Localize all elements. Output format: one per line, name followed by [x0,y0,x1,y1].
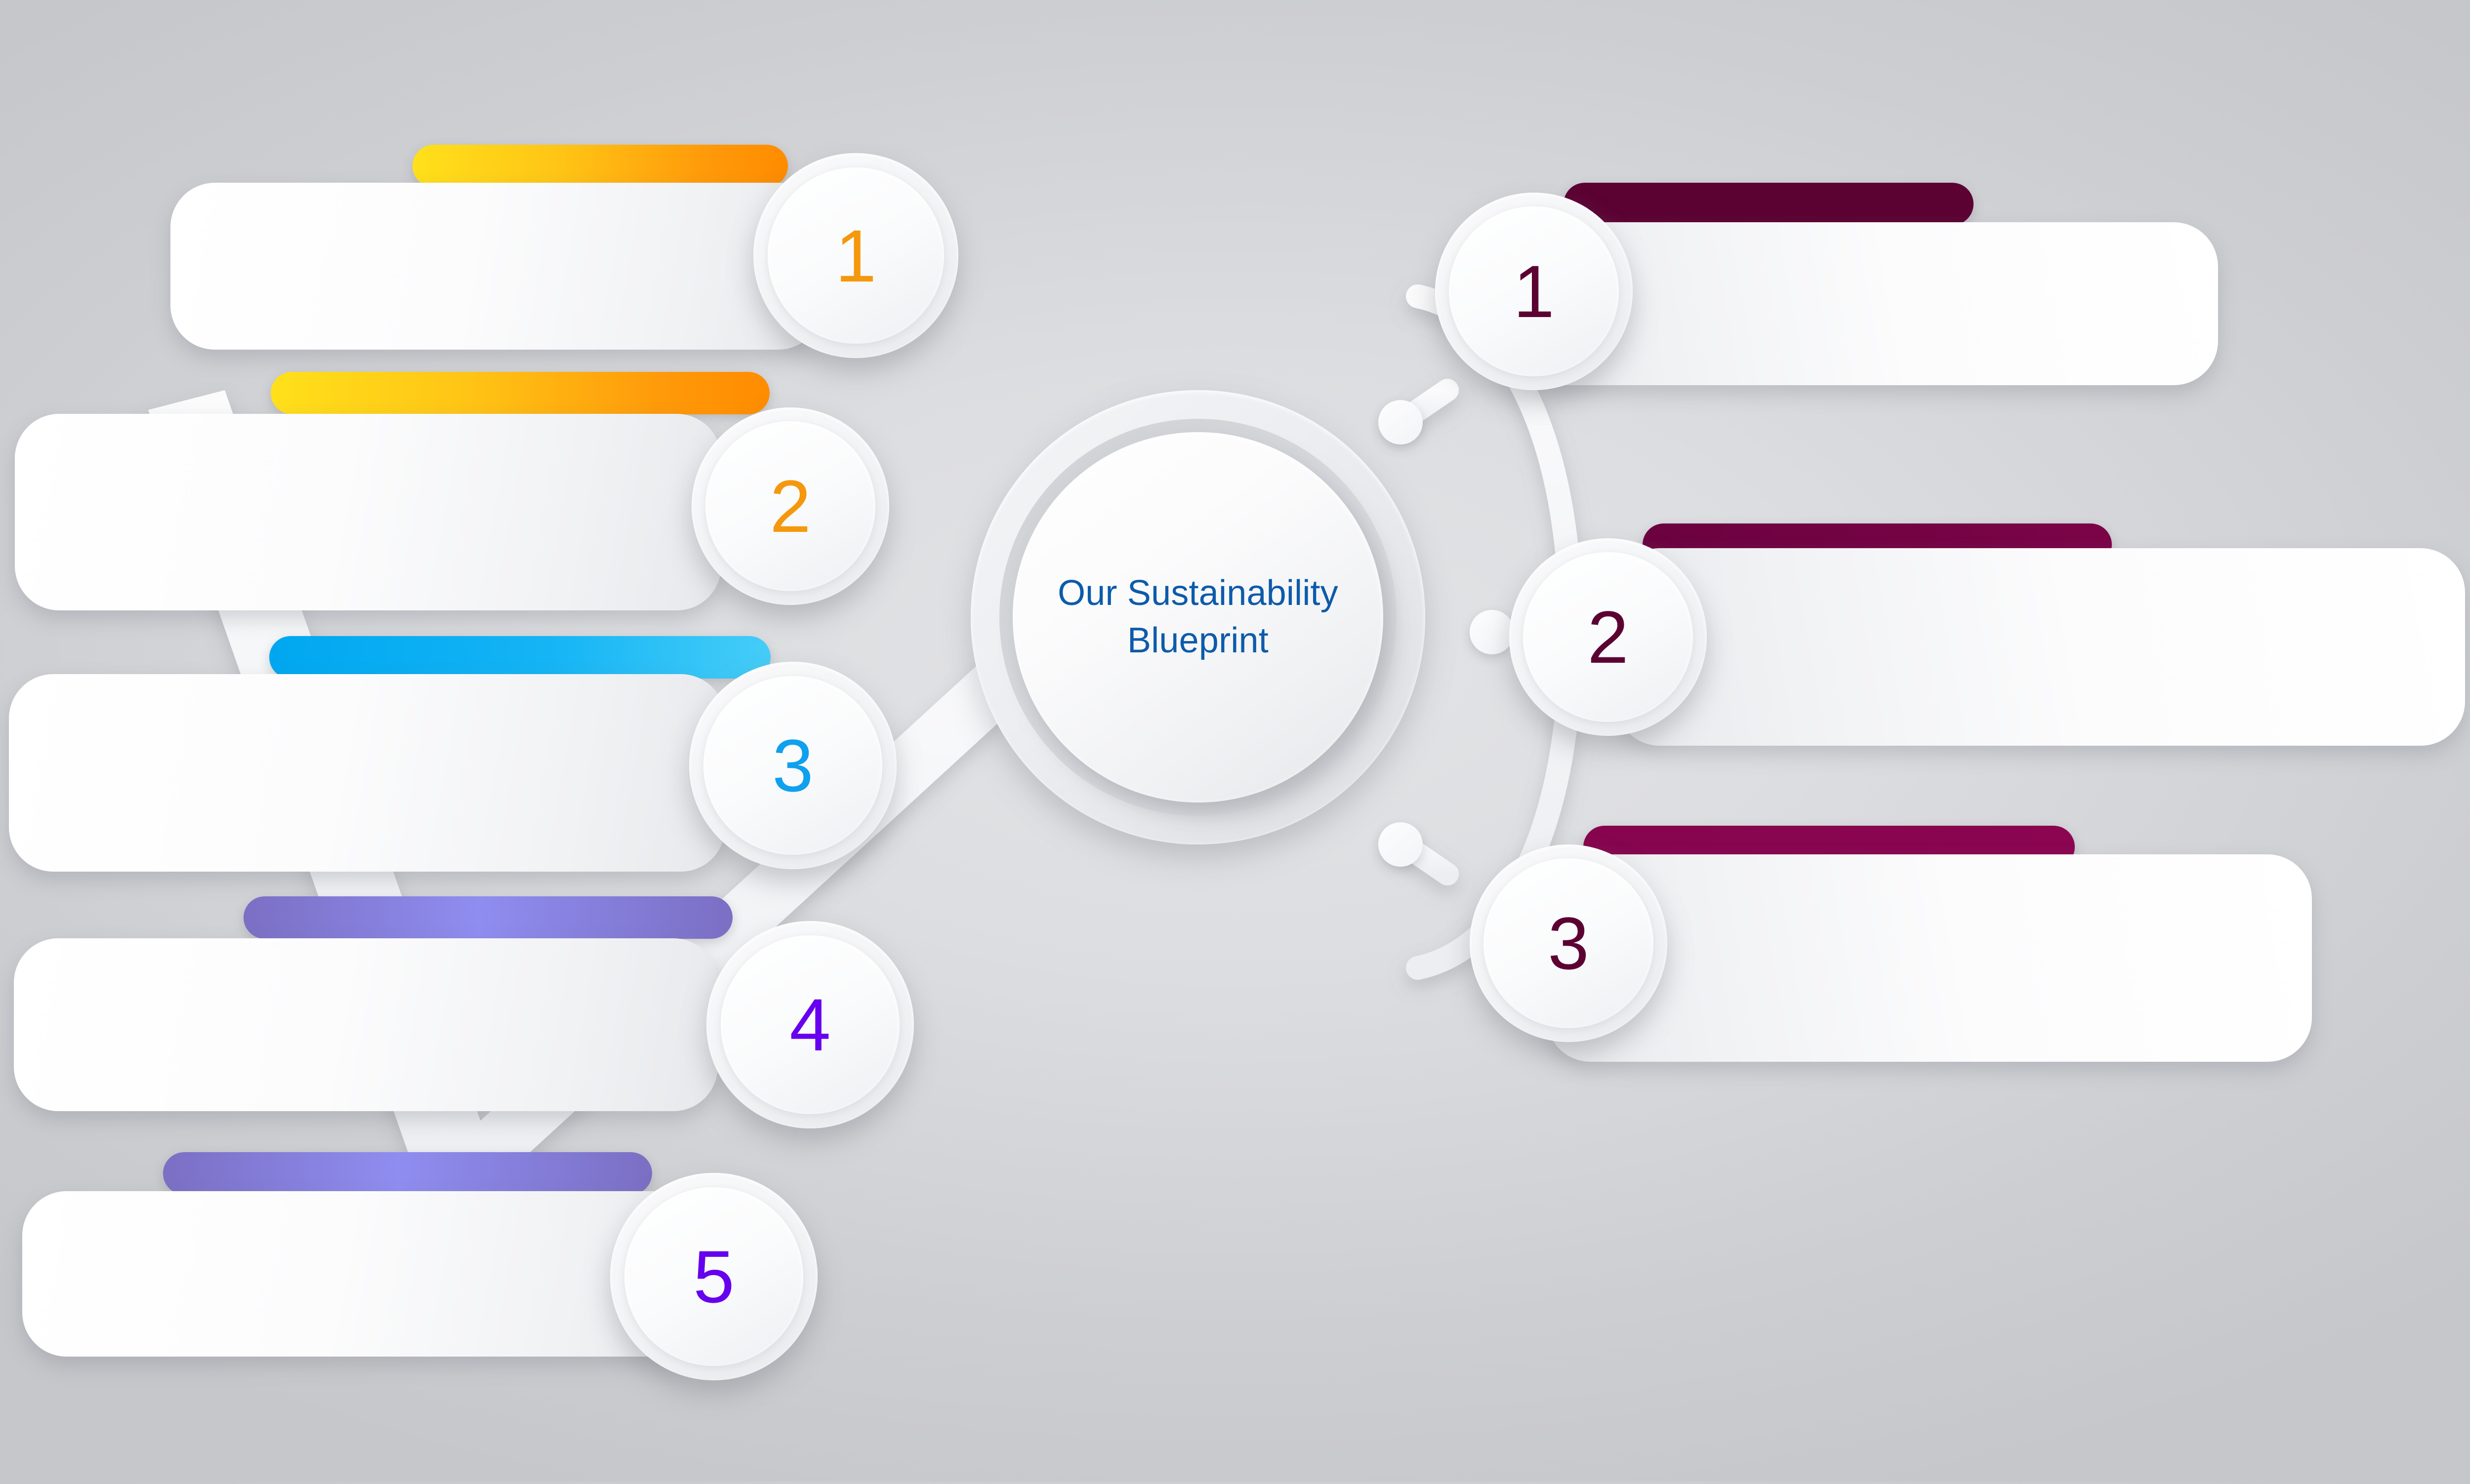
right-bubble-2-number: 2 [1587,600,1628,674]
left-card-4-panel [14,938,718,1111]
connector-dot-mid [1470,610,1514,654]
hub-inner-disc: Our Sustainability Blueprint [1013,432,1383,802]
left-card-3-panel [9,674,725,872]
left-card-1-panel [170,183,823,350]
left-bubble-3-number: 3 [772,728,813,802]
left-bubble-5-number: 5 [693,1240,734,1314]
left-card-4-accent-bar [244,896,733,939]
left-bubble-2-number: 2 [770,469,811,543]
right-bubble-1-number: 1 [1513,254,1554,328]
page-title: Our Sustainability Blueprint [1013,570,1383,665]
left-bubble-3[interactable]: 3 [689,662,897,869]
right-card-2-panel [1615,548,2465,746]
left-card-5-accent-bar [163,1152,652,1195]
left-card-3-accent-bar [269,636,771,679]
left-card-2-accent-bar [271,372,770,414]
right-bubble-3-number: 3 [1548,906,1589,980]
left-bubble-1[interactable]: 1 [753,153,958,358]
left-bubble-5[interactable]: 5 [610,1173,818,1380]
left-bubble-4[interactable]: 4 [706,921,914,1128]
connector-dot-top [1378,400,1423,444]
left-card-1-accent-bar [412,145,788,187]
left-bubble-4-number: 4 [789,988,830,1062]
right-bubble-1[interactable]: 1 [1435,193,1633,390]
right-bubble-3[interactable]: 3 [1470,844,1667,1042]
left-bubble-2[interactable]: 2 [692,407,889,605]
right-bubble-2[interactable]: 2 [1509,538,1707,736]
left-card-2-panel [15,414,721,610]
left-bubble-1-number: 1 [835,219,876,293]
connector-dot-bottom [1378,822,1423,867]
right-card-1-accent-bar [1564,183,1974,225]
center-hub: Our Sustainability Blueprint [971,390,1425,844]
